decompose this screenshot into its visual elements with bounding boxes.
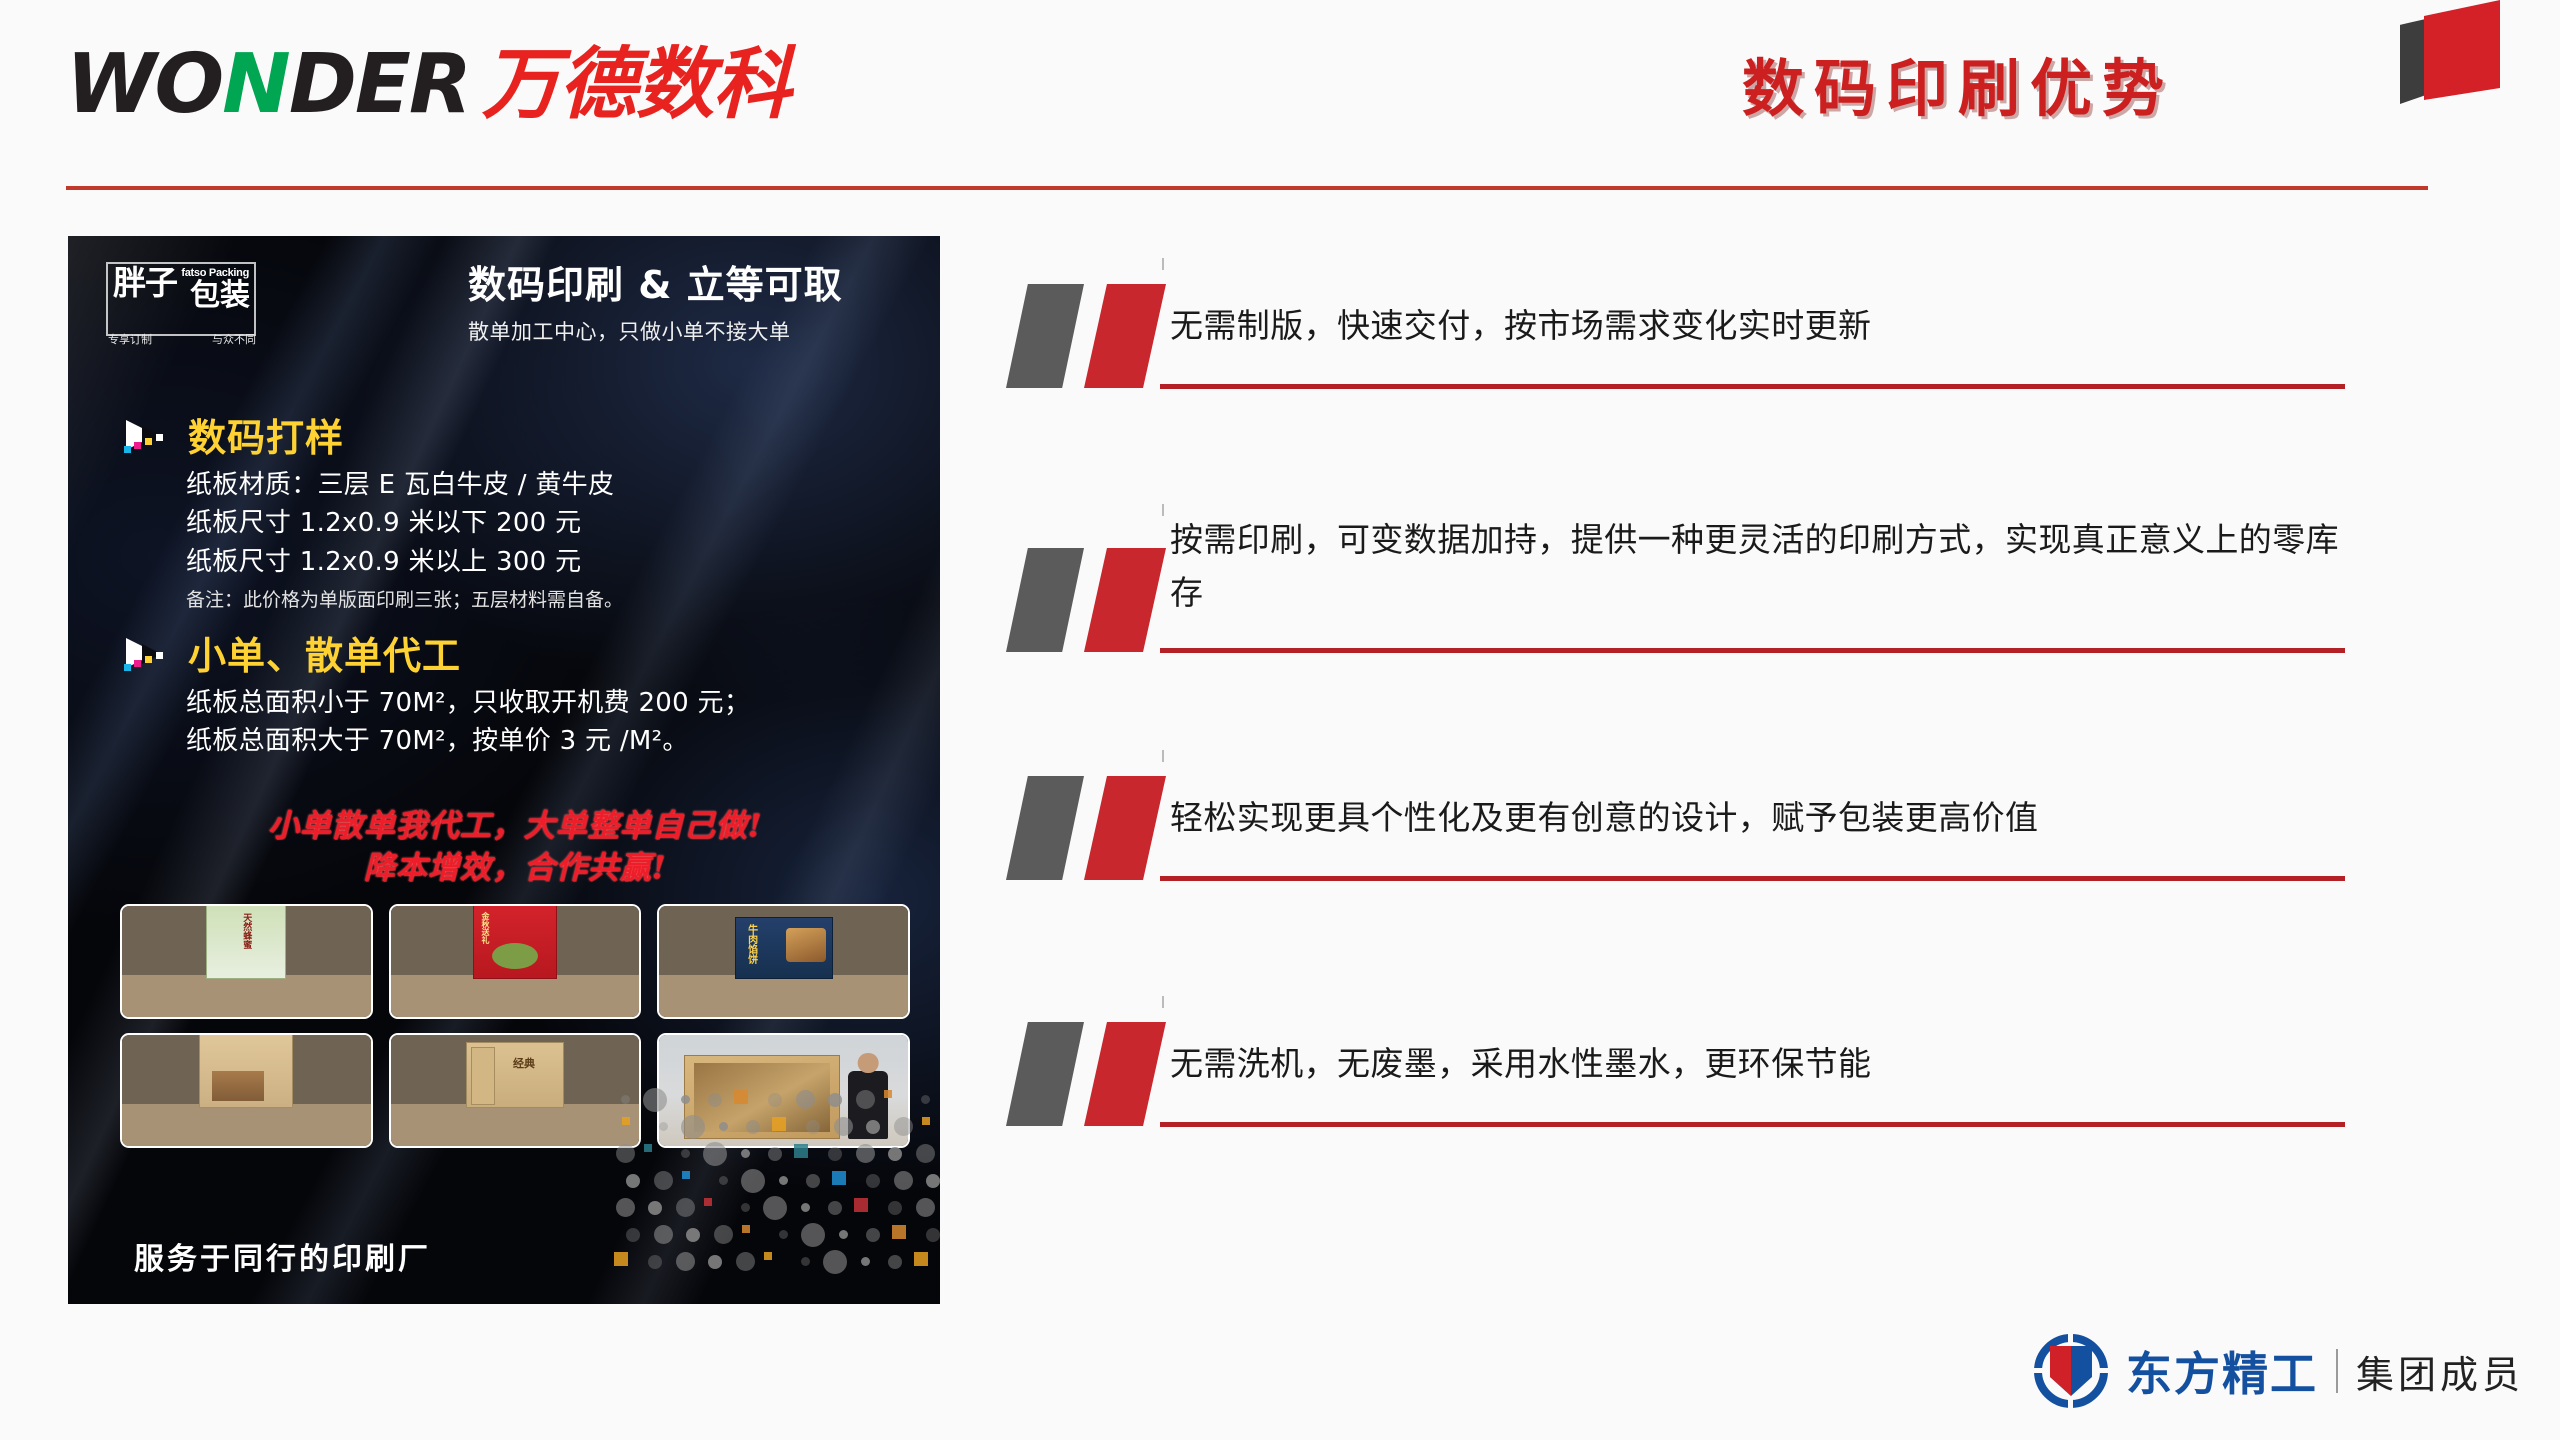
halftone-dot	[801, 1203, 810, 1212]
tick-mark	[1162, 504, 1164, 516]
halftone-dot	[643, 1088, 667, 1112]
liquor-box-label: 经典	[513, 1055, 535, 1071]
bullet-marker-red	[1084, 1022, 1166, 1126]
halftone-dot	[866, 1228, 880, 1242]
wonder-letter-o: O	[154, 44, 222, 126]
halftone-dot	[676, 1252, 695, 1271]
wonder-brand-logo: WONDER 万德数科	[66, 40, 790, 130]
halftone-dot	[648, 1255, 662, 1269]
halftone-dot	[626, 1228, 640, 1242]
bullet-marker-icon	[1000, 276, 1190, 398]
wonder-letter-n-green: N	[222, 44, 289, 126]
bullet-marker-red	[1084, 548, 1166, 652]
tick-mark	[1162, 258, 1164, 270]
halftone-dot	[676, 1198, 695, 1217]
poster-section-digital-proofing: 数码打样 纸板材质：三层 E 瓦白牛皮 / 黄牛皮 纸板尺寸 1.2x0.9 米…	[120, 416, 910, 612]
honey-box-label: 天然蜂蜜	[241, 913, 251, 949]
halftone-dot	[861, 1257, 870, 1266]
halftone-dot	[779, 1230, 788, 1239]
poster-slogan-line1: 小单散单我代工，大单整单自己做!	[120, 806, 910, 848]
poster-section-small-order-oem: 小单、散单代工 纸板总面积小于 70M²，只收取开机费 200 元； 纸板总面积…	[120, 634, 910, 761]
halftone-dot	[654, 1225, 673, 1244]
section-title: 小单、散单代工	[188, 637, 461, 675]
halftone-square	[734, 1090, 748, 1104]
header-divider	[66, 186, 2428, 190]
halftone-square	[892, 1225, 906, 1239]
poster-slogan-line2: 降本增效，合作共赢!	[120, 848, 910, 890]
halftone-square	[884, 1090, 892, 1098]
red-box-label: 金秋送礼	[480, 912, 491, 944]
halftone-square	[644, 1144, 652, 1152]
section-title: 数码打样	[188, 419, 344, 457]
fatso-logo-cn-top: 胖子	[113, 266, 177, 299]
tick-mark	[1162, 996, 1164, 1008]
advantage-item-3: 轻松实现更具个性化及更有创意的设计，赋予包装更高价值	[1000, 768, 2420, 1014]
poster-headline-block: 数码印刷 & 立等可取 散单加工中心，只做小单不接大单	[468, 264, 908, 346]
halftone-dot	[746, 1120, 760, 1134]
beef-box-label: 牛肉馅饼	[744, 924, 759, 964]
section-header: 数码打样	[120, 416, 910, 460]
halftone-dot	[801, 1257, 810, 1266]
halftone-dot	[779, 1176, 788, 1185]
halftone-dot	[866, 1120, 880, 1134]
halftone-square	[794, 1144, 808, 1158]
halftone-dot	[834, 1117, 853, 1136]
halftone-dot	[916, 1198, 935, 1217]
halftone-dot	[708, 1093, 722, 1107]
company-name: 东方精工	[2126, 1338, 2318, 1404]
halftone-dot	[916, 1144, 935, 1163]
halftone-dot	[708, 1255, 722, 1269]
advantages-list: 无需制版，快速交付，按市场需求变化实时更新 按需印刷，可变数据加持，提供一种更灵…	[1000, 276, 2420, 1260]
halftone-dot	[828, 1093, 842, 1107]
fatso-packing-logo: 胖子 fatso Packing 包装	[106, 262, 256, 336]
halftone-dot	[828, 1201, 842, 1215]
halftone-dot	[894, 1117, 913, 1136]
product-photo-classic-liquor-box: 经典	[389, 1033, 642, 1148]
advantage-text: 无需制版，快速交付，按市场需求变化实时更新	[1170, 300, 2360, 353]
halftone-dot	[719, 1176, 728, 1185]
product-photo-honey-gift-box: 天然蜂蜜	[120, 904, 373, 1019]
halftone-dot	[856, 1090, 875, 1109]
folded-page-red-panel	[2424, 0, 2500, 100]
halftone-dot	[626, 1174, 640, 1188]
bullet-marker-grey	[1006, 284, 1084, 388]
poster-footer-text: 服务于同行的印刷厂	[134, 1234, 431, 1278]
honey-box-shape: 天然蜂蜜	[206, 905, 286, 979]
halftone-dot	[796, 1090, 815, 1109]
halftone-dot	[654, 1171, 673, 1190]
product-photo-beef-jerky-box: 牛肉馅饼	[657, 904, 910, 1019]
halftone-square	[832, 1171, 846, 1185]
halftone-square	[682, 1171, 690, 1179]
halftone-dot	[681, 1149, 690, 1158]
halftone-dot	[763, 1196, 787, 1220]
poster-headline: 数码印刷 & 立等可取	[468, 264, 908, 308]
halftone-square	[704, 1198, 712, 1206]
halftone-dot	[686, 1228, 700, 1242]
halftone-square	[742, 1225, 750, 1233]
section-body: 纸板总面积小于 70M²，只收取开机费 200 元； 纸板总面积大于 70M²，…	[186, 684, 910, 761]
halftone-square	[764, 1252, 772, 1260]
section-line: 纸板总面积小于 70M²，只收取开机费 200 元；	[186, 684, 910, 722]
section-line: 纸板材质：三层 E 瓦白牛皮 / 黄牛皮	[186, 466, 910, 504]
halftone-dot	[921, 1095, 930, 1104]
halftone-dot	[926, 1174, 940, 1188]
halftone-square	[614, 1252, 628, 1266]
wonder-chinese-name: 万德数科	[482, 46, 790, 124]
bullet-marker-icon	[1000, 768, 1190, 890]
arrow-chevron-icon	[120, 416, 178, 460]
fatso-tagline-right: 与众不同	[212, 331, 256, 347]
advantage-underline	[1160, 876, 2345, 881]
tick-mark	[1162, 750, 1164, 762]
halftone-dot	[768, 1093, 782, 1107]
dongfang-emblem-icon	[2034, 1334, 2108, 1408]
halftone-dot	[806, 1120, 820, 1134]
halftone-dot	[741, 1203, 750, 1212]
section-note: 备注：此价格为单版面印刷三张；五层材料需自备。	[186, 585, 910, 612]
product-photo-kraft-handle-box	[120, 1033, 373, 1148]
halftone-dot	[741, 1169, 765, 1193]
halftone-square	[622, 1117, 630, 1125]
halftone-dot	[856, 1144, 875, 1163]
halftone-dot	[894, 1171, 913, 1190]
bullet-marker-grey	[1006, 776, 1084, 880]
halftone-dot	[681, 1115, 705, 1139]
bullet-marker-red	[1084, 284, 1166, 388]
halftone-dot-decoration	[610, 1086, 940, 1276]
halftone-dot	[806, 1174, 820, 1188]
bullet-marker-red	[1084, 776, 1166, 880]
halftone-dot	[828, 1147, 842, 1161]
section-body: 纸板材质：三层 E 瓦白牛皮 / 黄牛皮 纸板尺寸 1.2x0.9 米以下 20…	[186, 466, 910, 612]
bullet-marker-grey	[1006, 548, 1084, 652]
folded-page-icon	[2400, 0, 2516, 104]
halftone-dot	[703, 1142, 727, 1166]
halftone-dot	[801, 1223, 825, 1247]
footer-divider	[2336, 1349, 2338, 1393]
halftone-dot	[616, 1198, 635, 1217]
section-line: 纸板尺寸 1.2x0.9 米以上 300 元	[186, 543, 910, 581]
halftone-dot	[659, 1122, 668, 1131]
halftone-dot	[741, 1149, 750, 1158]
wonder-letter-w: W	[66, 44, 154, 126]
bullet-marker-icon	[1000, 540, 1190, 662]
fatso-logo-taglines: 专享订制 与众不同	[108, 331, 256, 347]
liquor-box-shape: 经典	[466, 1042, 564, 1108]
advantage-underline	[1160, 1122, 2345, 1127]
halftone-dot	[888, 1147, 902, 1161]
kraft-box-shape	[199, 1034, 293, 1108]
advantage-underline	[1160, 384, 2345, 389]
halftone-dot	[616, 1144, 635, 1163]
halftone-dot	[621, 1095, 630, 1104]
advantage-text: 轻松实现更具个性化及更有创意的设计，赋予包装更高价值	[1170, 792, 2360, 845]
halftone-dot	[866, 1174, 880, 1188]
section-header: 小单、散单代工	[120, 634, 910, 678]
bullet-marker-icon	[1000, 1014, 1190, 1136]
section-line: 纸板尺寸 1.2x0.9 米以下 200 元	[186, 504, 910, 542]
halftone-dot	[823, 1250, 847, 1274]
advantage-item-1: 无需制版，快速交付，按市场需求变化实时更新	[1000, 276, 2420, 522]
advantage-underline	[1160, 648, 2345, 653]
group-member-label: 集团成员	[2356, 1344, 2524, 1399]
wonder-letters-der: DER	[289, 44, 470, 126]
bullet-marker-grey	[1006, 1022, 1084, 1126]
advantage-item-2: 按需印刷，可变数据加持，提供一种更灵活的印刷方式，实现真正意义上的零库存	[1000, 522, 2420, 768]
fatso-logo-cn-bottom: 包装	[190, 281, 250, 311]
halftone-dot	[926, 1228, 940, 1242]
product-photo-red-meat-gift-box: 金秋送礼	[389, 904, 642, 1019]
halftone-square	[772, 1117, 786, 1131]
halftone-dot	[681, 1095, 690, 1104]
poster-image: 胖子 fatso Packing 包装 专享订制 与众不同 数码印刷 & 立等可…	[68, 236, 940, 1304]
poster-subheadline: 散单加工中心，只做小单不接大单	[468, 316, 908, 346]
halftone-dot	[888, 1201, 902, 1215]
halftone-square	[922, 1117, 930, 1125]
halftone-dot	[719, 1122, 728, 1131]
beef-box-shape: 牛肉馅饼	[735, 917, 833, 979]
halftone-dot	[736, 1252, 755, 1271]
halftone-dot	[768, 1147, 782, 1161]
fatso-tagline-left: 专享订制	[108, 331, 152, 347]
slide-root: WONDER 万德数科 数码印刷优势 胖子 fatso Packing 包装 专…	[0, 0, 2560, 1440]
halftone-dot	[888, 1255, 902, 1269]
halftone-dot	[648, 1201, 662, 1215]
halftone-dot	[714, 1225, 733, 1244]
advantage-text: 无需洗机，无废墨，采用水性墨水，更环保节能	[1170, 1038, 2360, 1091]
wonder-wordmark: WONDER	[66, 44, 470, 126]
advantage-item-4: 无需洗机，无废墨，采用水性墨水，更环保节能	[1000, 1014, 2420, 1260]
halftone-square	[914, 1252, 928, 1266]
advantage-text: 按需印刷，可变数据加持，提供一种更灵活的印刷方式，实现真正意义上的零库存	[1170, 514, 2360, 620]
arrow-chevron-icon	[120, 634, 178, 678]
poster-slogan: 小单散单我代工，大单整单自己做! 降本增效，合作共赢!	[120, 806, 910, 890]
page-title: 数码印刷优势	[1742, 38, 2174, 128]
group-member-logo: 东方精工 集团成员	[2034, 1334, 2524, 1408]
section-line: 纸板总面积大于 70M²，按单价 3 元 /M²。	[186, 722, 910, 760]
halftone-dot	[839, 1230, 848, 1239]
red-box-shape: 金秋送礼	[473, 904, 557, 979]
halftone-square	[854, 1198, 868, 1212]
